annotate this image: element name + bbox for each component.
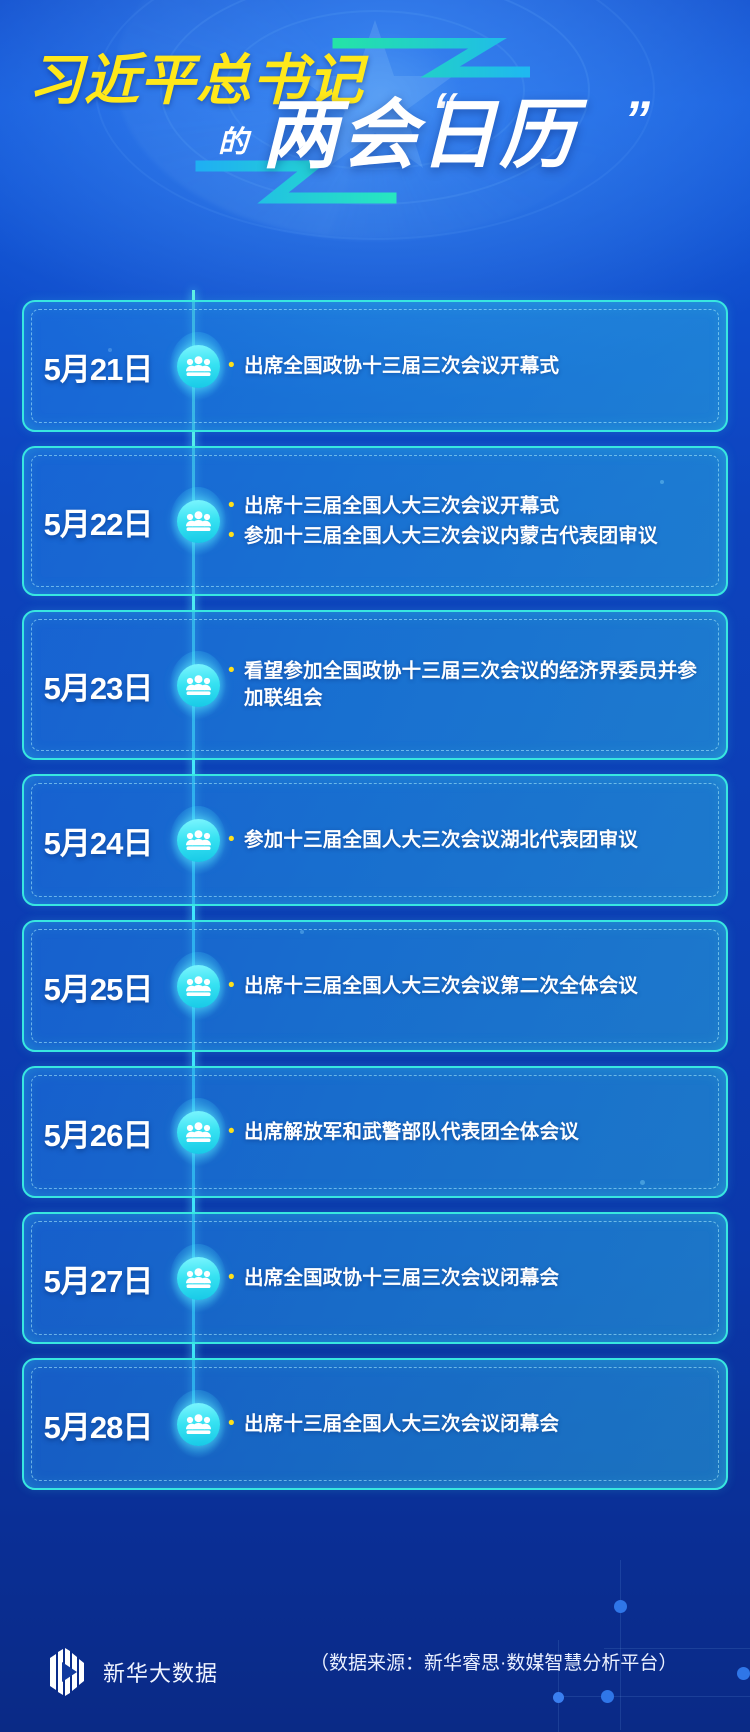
- assembly-icon: [177, 1257, 220, 1300]
- timeline-event: •出席全国政协十三届三次会议开幕式: [228, 353, 700, 380]
- page-footer: 新华大数据 （数据来源：新华睿思·数媒智慧分析平台）: [0, 1600, 750, 1732]
- timeline-events: •看望参加全国政协十三届三次会议的经济界委员并参加联组会: [228, 655, 726, 715]
- timeline-card: 5月21日 •出席全国政协十三届三次会议开幕式: [22, 300, 728, 432]
- bullet-icon: •: [228, 827, 244, 853]
- xinhua-bigdata-logo-icon: [46, 1644, 90, 1700]
- brand-name: 新华大数据: [103, 1656, 218, 1688]
- timeline-node: [168, 1242, 228, 1314]
- timeline-event: •参加十三届全国人大三次会议湖北代表团审议: [228, 827, 700, 854]
- timeline-events: •出席十三届全国人大三次会议第二次全体会议: [228, 970, 726, 1003]
- timeline-events: •出席十三届全国人大三次会议闭幕会: [228, 1408, 726, 1441]
- assembly-icon: [177, 965, 220, 1008]
- timeline-card: 5月24日 •参加十三届全国人大三次会议湖北代表团审议: [22, 774, 728, 906]
- bullet-icon: •: [228, 658, 244, 684]
- timeline-event: •出席十三届全国人大三次会议第二次全体会议: [228, 973, 700, 1000]
- timeline-event-text: 出席十三届全国人大三次会议第二次全体会议: [244, 973, 638, 1000]
- timeline-events: •出席解放军和武警部队代表团全体会议: [228, 1116, 726, 1149]
- quote-close-mark: ”: [624, 94, 650, 146]
- timeline-event: •出席十三届全国人大三次会议闭幕会: [228, 1411, 700, 1438]
- timeline-event-text: 出席全国政协十三届三次会议开幕式: [244, 353, 559, 380]
- bullet-icon: •: [228, 353, 244, 379]
- timeline-date: 5月25日: [24, 964, 172, 1009]
- timeline-date: 5月24日: [24, 818, 172, 863]
- timeline-node: [168, 950, 228, 1022]
- bullet-icon: •: [228, 1265, 244, 1291]
- page-title-sub: 两会日历: [262, 98, 578, 174]
- timeline-events: •出席全国政协十三届三次会议开幕式: [228, 350, 726, 383]
- timeline-date: 5月23日: [24, 663, 172, 708]
- assembly-icon: [177, 1111, 220, 1154]
- timeline-event: •参加十三届全国人大三次会议内蒙古代表团审议: [228, 523, 700, 550]
- bullet-icon: •: [228, 973, 244, 999]
- assembly-icon: [177, 664, 220, 707]
- assembly-icon: [177, 1403, 220, 1446]
- timeline-event: •出席十三届全国人大三次会议开幕式: [228, 493, 700, 520]
- timeline-node: [168, 330, 228, 402]
- timeline-events: •出席十三届全国人大三次会议开幕式•参加十三届全国人大三次会议内蒙古代表团审议: [228, 490, 726, 553]
- timeline-event: •出席解放军和武警部队代表团全体会议: [228, 1119, 700, 1146]
- page-header: 习近平总书记 的 “ 两会日历 ”: [0, 0, 750, 300]
- timeline-card: 5月28日 •出席十三届全国人大三次会议闭幕会: [22, 1358, 728, 1490]
- timeline-card: 5月25日 •出席十三届全国人大三次会议第二次全体会议: [22, 920, 728, 1052]
- timeline-event-text: 出席解放军和武警部队代表团全体会议: [244, 1119, 579, 1146]
- timeline-events: •参加十三届全国人大三次会议湖北代表团审议: [228, 824, 726, 857]
- timeline-card: 5月23日 •看望参加全国政协十三届三次会议的经济界委员并参加联组会: [22, 610, 728, 760]
- timeline-node: [168, 1388, 228, 1460]
- bullet-icon: •: [228, 523, 244, 549]
- timeline-date: 5月21日: [24, 344, 172, 389]
- timeline-event-text: 参加十三届全国人大三次会议内蒙古代表团审议: [244, 523, 658, 550]
- bullet-icon: •: [228, 493, 244, 519]
- assembly-icon: [177, 345, 220, 388]
- timeline-node: [168, 485, 228, 557]
- timeline-events: •出席全国政协十三届三次会议闭幕会: [228, 1262, 726, 1295]
- timeline-date: 5月28日: [24, 1402, 172, 1447]
- timeline-date: 5月22日: [24, 499, 172, 544]
- assembly-icon: [177, 500, 220, 543]
- bullet-icon: •: [228, 1119, 244, 1145]
- timeline-event-text: 参加十三届全国人大三次会议湖北代表团审议: [244, 827, 638, 854]
- page-title-particle: 的: [218, 128, 248, 158]
- timeline-node: [168, 1096, 228, 1168]
- timeline-event: •看望参加全国政协十三届三次会议的经济界委员并参加联组会: [228, 658, 700, 712]
- timeline-event: •出席全国政协十三届三次会议闭幕会: [228, 1265, 700, 1292]
- timeline: 5月21日 •出席全国政协十三届三次会议开幕式5月22日 •出席十三届全国人大三…: [0, 300, 750, 1490]
- assembly-icon: [177, 819, 220, 862]
- timeline-card: 5月22日 •出席十三届全国人大三次会议开幕式•参加十三届全国人大三次会议内蒙古…: [22, 446, 728, 596]
- timeline-node: [168, 804, 228, 876]
- timeline-event-text: 出席全国政协十三届三次会议闭幕会: [244, 1265, 559, 1292]
- timeline-event-text: 看望参加全国政协十三届三次会议的经济界委员并参加联组会: [244, 658, 700, 712]
- bullet-icon: •: [228, 1411, 244, 1437]
- timeline-card: 5月26日 •出席解放军和武警部队代表团全体会议: [22, 1066, 728, 1198]
- timeline-date: 5月27日: [24, 1256, 172, 1301]
- timeline-card: 5月27日 •出席全国政协十三届三次会议闭幕会: [22, 1212, 728, 1344]
- timeline-node: [168, 649, 228, 721]
- timeline-event-text: 出席十三届全国人大三次会议开幕式: [244, 493, 559, 520]
- timeline-card-list: 5月21日 •出席全国政协十三届三次会议开幕式5月22日 •出席十三届全国人大三…: [0, 300, 750, 1490]
- timeline-date: 5月26日: [24, 1110, 172, 1155]
- timeline-event-text: 出席十三届全国人大三次会议闭幕会: [244, 1411, 559, 1438]
- data-source-note: （数据来源：新华睿思·数媒智慧分析平台）: [310, 1648, 677, 1675]
